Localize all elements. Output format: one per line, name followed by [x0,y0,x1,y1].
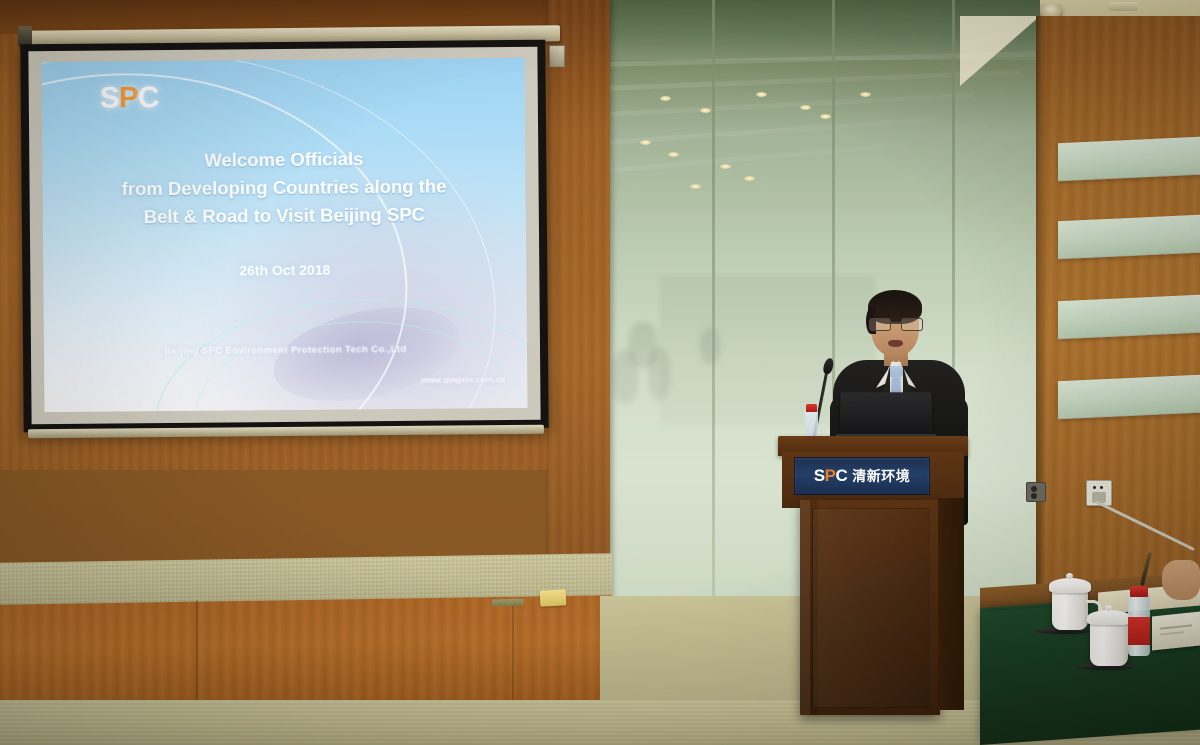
teacup-lid-1 [1049,578,1091,593]
podium-logo-chinese: 清新环境 [852,466,910,486]
frosted-glass-strip-3 [1058,295,1200,339]
ceiling-lamp-reflection [700,108,711,113]
slide-title-line-2: from Developing Countries along the [52,172,515,204]
laptop-screen[interactable] [840,392,933,438]
ceiling-lamp-reflection [860,92,871,97]
wall-right-shadow-edge [1036,16,1046,600]
name-card-text-line [1160,631,1184,636]
ceiling-lamp-reflection [640,140,651,145]
name-card [1152,611,1200,650]
port-hole-icon [1031,493,1037,499]
ceiling-lamp-reflection [720,164,731,169]
attendee-hand [1162,560,1200,600]
conference-room-photo: SPC Welcome Officials from Developing Co… [0,0,1200,745]
stage-object-plate [492,599,524,607]
table-water-bottle-cap [1130,586,1148,597]
stage-panel-seam [196,600,198,710]
projector-screen-roller-cap [18,26,32,46]
speaker-eyebrow-left [873,314,889,317]
logo-letter-s: S [100,81,119,114]
teacup-2 [1090,620,1128,666]
name-card-text-line [1160,624,1192,629]
teacup-lid-2 [1087,610,1131,625]
ceiling-lamp-reflection [690,184,701,189]
teacup-knob-2 [1105,605,1112,611]
podium-side-face [938,498,964,710]
presentation-slide: SPC Welcome Officials from Developing Co… [41,58,527,412]
teacup-1 [1052,588,1088,630]
port-hole-icon [1031,486,1037,492]
glasses-lens-right [901,318,923,331]
screen-mat: SPC Welcome Officials from Developing Co… [28,47,540,424]
ceiling-lamp-reflection [756,92,767,97]
slide-title-line-1: Welcome Officials [52,144,515,176]
stage-platform-face [0,595,612,715]
slide-title-line-3: Belt & Road to Visit Beijing SPC [53,200,516,232]
podium-logo-letter-s: S [814,466,825,485]
ceiling-light-fixture [1108,2,1138,11]
wood-column [548,0,610,600]
frosted-glass-strip-2 [1058,215,1200,259]
ceiling-lamp-reflection [744,176,755,181]
wall-switch-plate[interactable] [549,45,565,67]
socket-hole-icon [1093,486,1096,489]
speaker-mouth [888,340,903,347]
podium-logo-spc: SPC [814,466,847,486]
table-water-bottle-label [1128,617,1150,645]
podium-water-bottle-cap [806,404,817,412]
logo-letter-c: C [138,81,159,114]
glass-mullion [712,0,715,600]
ceiling-lamp-reflection [660,96,671,101]
speaker-glasses [869,318,921,329]
glasses-bridge [889,322,901,324]
stage-panel-seam [512,600,514,710]
slide-title: Welcome Officials from Developing Countr… [42,144,526,233]
podium-brand-plaque: SPC 清新环境 [794,457,930,495]
ceiling-lamp-reflection [800,105,811,110]
podium-logo-letter-c: C [835,466,847,485]
podium-column-panel [812,508,930,708]
projection-screen: SPC Welcome Officials from Developing Co… [20,40,548,433]
podium-logo-letter-p: P [825,466,836,485]
ceiling-lamp-reflection [820,114,831,119]
stage-object-card [540,589,567,606]
data-port-plate[interactable] [1026,482,1046,502]
teacup-knob-1 [1066,573,1073,579]
logo-letter-p: P [119,81,138,114]
slide-spc-logo: SPC [100,81,159,116]
frosted-glass-strip-1 [1058,137,1200,181]
glasses-lens-left [869,318,891,331]
frosted-glass-strip-4 [1058,375,1200,419]
socket-hole-icon [1100,486,1103,489]
slide-website-url: www.qingxin.com.cn [421,374,505,385]
ceiling-lamp-reflection [668,152,679,157]
speaker-eyebrow-right [901,313,917,316]
